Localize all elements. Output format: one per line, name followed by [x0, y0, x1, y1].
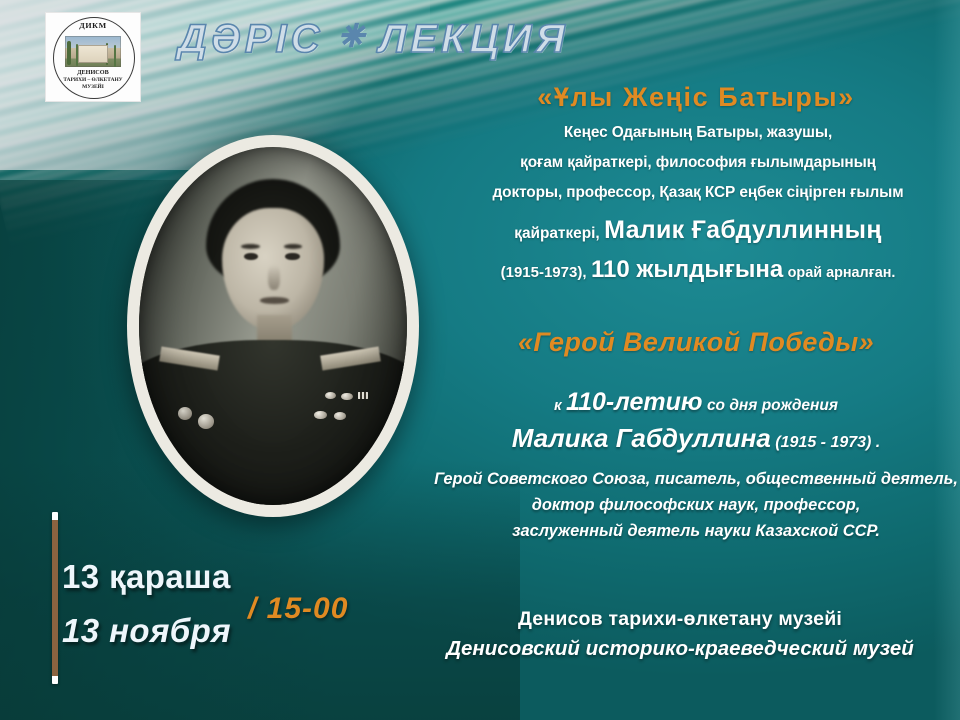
kazakh-role-word: қайраткері,	[514, 225, 599, 242]
logo-abbr-text: ДИКМ	[46, 21, 140, 30]
russian-preposition: к	[554, 397, 562, 414]
museum-name-kazakh: Денисов тарихи-өлкетану музейі	[400, 608, 960, 631]
russian-body: Герой Советского Союза, писатель, общест…	[432, 466, 960, 544]
russian-anniversary: 110-летию	[566, 388, 702, 416]
headline-kk: ДӘРІС	[178, 17, 323, 61]
event-time: / 15-00	[248, 592, 348, 626]
logo-line-3: МУЗЕЙІ	[46, 84, 140, 90]
museum-logo: ДИКМ ДЕНИСОВ ТАРИХИ – ӨЛКЕТАНУ МУЗЕЙІ	[45, 12, 141, 102]
kazakh-body: Кеңес Одағының Батыры, жазушы, қоғам қай…	[438, 118, 958, 208]
logo-building-icon	[65, 36, 121, 67]
kazakh-life-years: (1915-1973),	[501, 264, 587, 281]
kazakh-person-name: Малик Ғабдуллинның	[604, 216, 882, 244]
kazakh-dedication: орай арналған.	[788, 265, 896, 281]
event-date-russian: 13 ноября	[62, 612, 231, 650]
kazakh-body-line-2: қоғам қайраткері, философия ғылымдарының	[438, 148, 958, 178]
russian-life-years: (1915 - 1973) .	[775, 434, 880, 451]
logo-line-2: ТАРИХИ – ӨЛКЕТАНУ	[46, 77, 140, 83]
russian-body-line-1: Герой Советского Союза, писатель, общест…	[432, 466, 960, 492]
museum-footer: Денисов тарихи-өлкетану музейі Денисовск…	[400, 608, 960, 661]
event-date-kazakh: 13 қараша	[62, 558, 231, 596]
headline-separator-icon: ✳	[339, 20, 364, 53]
russian-birthday-phrase: со дня рождения	[707, 397, 838, 414]
russian-anniversary-line: к 110-летию со дня рождения	[432, 388, 960, 417]
portrait-oval-frame	[127, 135, 419, 517]
kazakh-title: «Ұлы Жеңіс Батыры»	[432, 82, 960, 113]
museum-name-russian: Денисовский историко-краеведческий музей	[400, 637, 960, 661]
vertical-accent-bar	[52, 512, 58, 684]
russian-body-line-2: доктор философских наук, профессор,	[432, 492, 960, 518]
kazakh-name-line: қайраткері, Малик Ғабдуллинның	[438, 212, 958, 252]
russian-name-line: Малика Габдуллина (1915 - 1973) .	[432, 423, 960, 454]
kazakh-anniversary: 110 жылдығына	[591, 256, 783, 283]
portrait-vignette	[139, 147, 407, 505]
logo-line-1: ДЕНИСОВ	[46, 69, 140, 76]
kazakh-body-line-1: Кеңес Одағының Батыры, жазушы,	[438, 118, 958, 148]
poster-canvas: ДИКМ ДЕНИСОВ ТАРИХИ – ӨЛКЕТАНУ МУЗЕЙІ ДӘ…	[0, 0, 960, 720]
kazakh-anniversary-line: (1915-1973), 110 жылдығына орай арналған…	[438, 252, 958, 291]
kazakh-body-line-3: докторы, профессор, Қазақ КСР еңбек сіңі…	[438, 178, 958, 208]
russian-title: «Герой Великой Победы»	[432, 327, 960, 358]
russian-body-line-3: заслуженный деятель науки Казахской ССР.	[432, 518, 960, 544]
russian-person-name: Малика Габдуллина	[512, 423, 771, 453]
portrait-photo	[139, 147, 407, 505]
